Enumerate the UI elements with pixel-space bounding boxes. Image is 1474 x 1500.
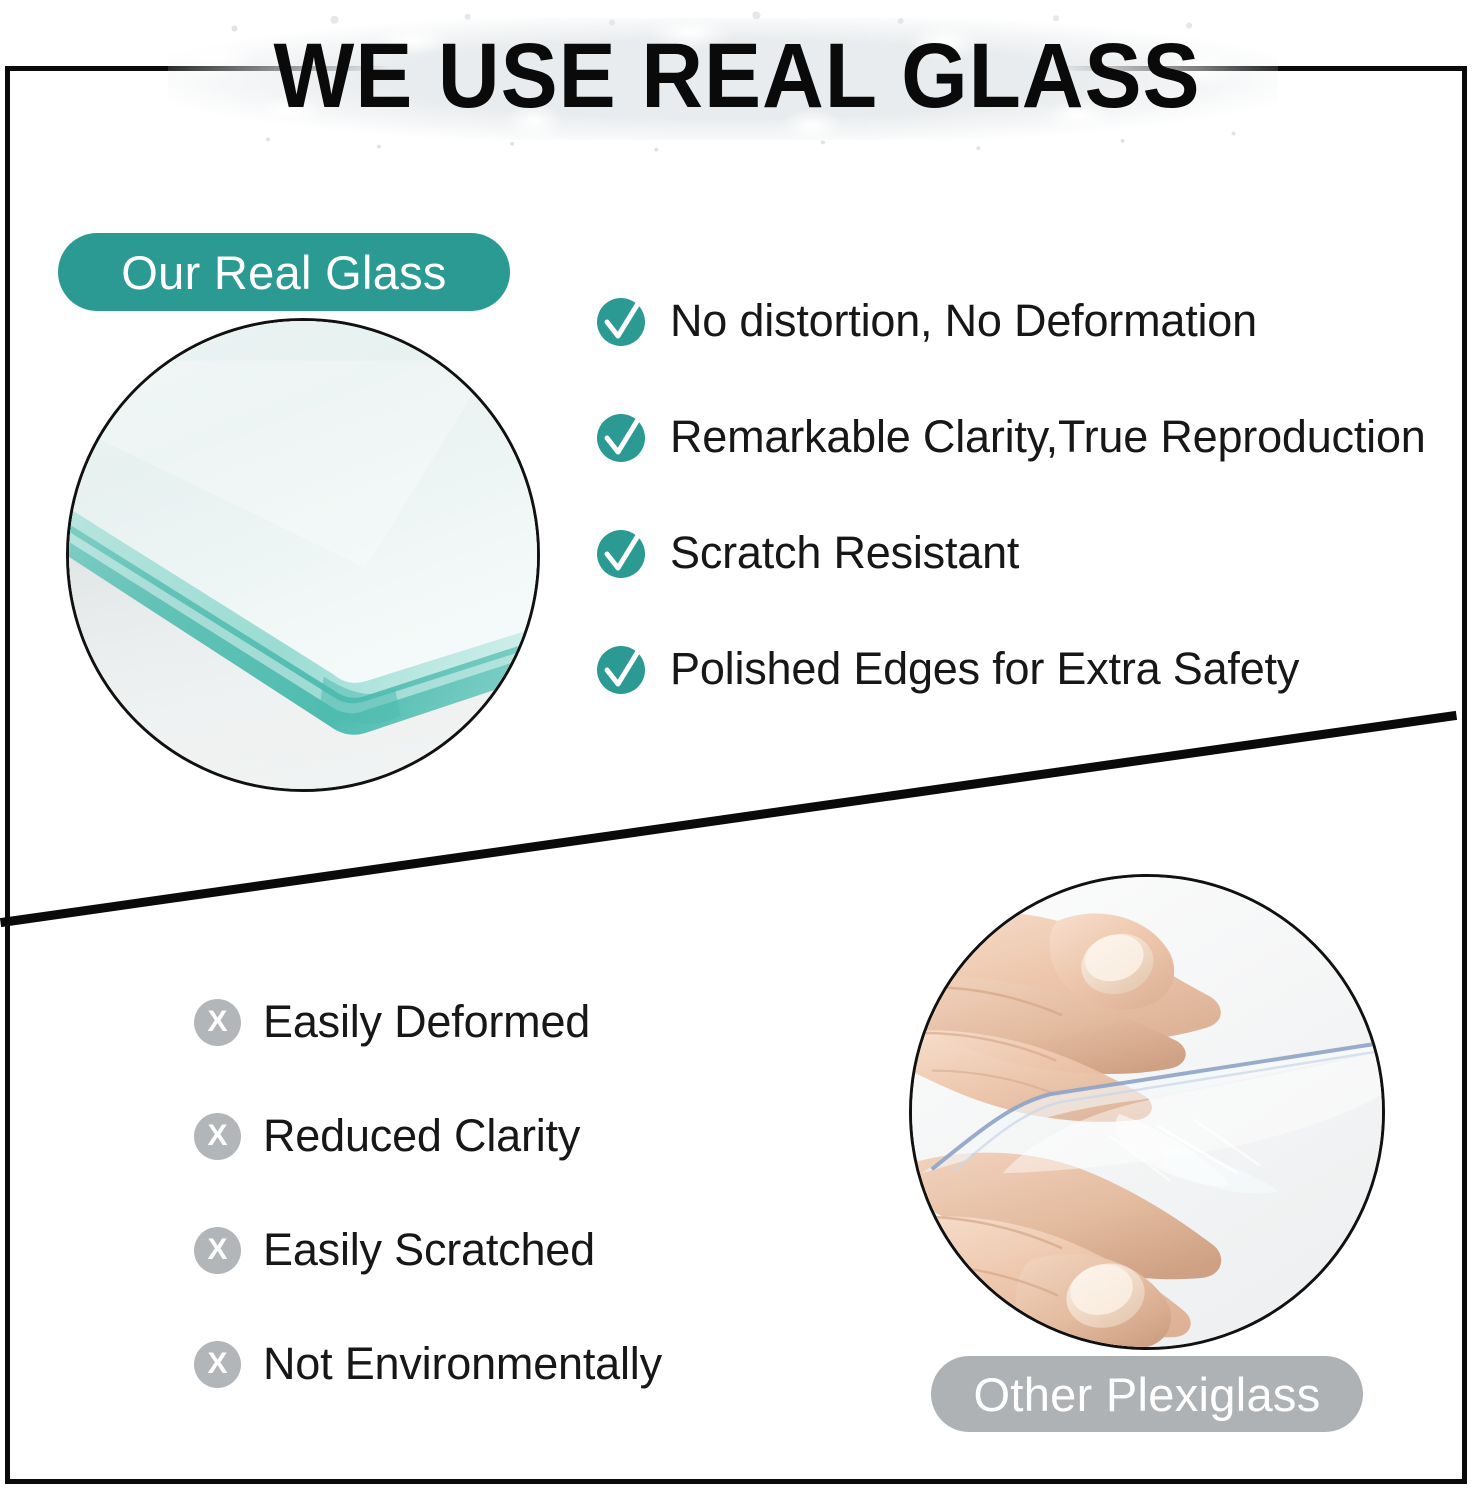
x-circle-icon: X bbox=[194, 1341, 241, 1388]
badge-our-real-glass-label: Our Real Glass bbox=[121, 249, 446, 296]
x-circle-icon: X bbox=[194, 999, 241, 1046]
check-circle-icon bbox=[596, 411, 648, 463]
list-item-label: Easily Scratched bbox=[263, 1224, 595, 1276]
list-item-label: Not Environmentally bbox=[263, 1338, 662, 1390]
list-item: Polished Edges for Extra Safety bbox=[596, 640, 1456, 698]
list-item-label: Easily Deformed bbox=[263, 996, 590, 1048]
list-item: X Reduced Clarity bbox=[194, 1110, 814, 1162]
list-item: Remarkable Clarity,True Reproduction bbox=[596, 408, 1456, 466]
check-circle-icon bbox=[596, 643, 648, 695]
pros-list: No distortion, No Deformation Remarkable… bbox=[596, 292, 1456, 756]
list-item-label: No distortion, No Deformation bbox=[670, 295, 1257, 347]
badge-other-plexiglass-label: Other Plexiglass bbox=[974, 1371, 1321, 1418]
x-circle-icon: X bbox=[194, 1113, 241, 1160]
list-item-label: Scratch Resistant bbox=[670, 527, 1019, 579]
list-item-label: Reduced Clarity bbox=[263, 1110, 580, 1162]
real-glass-corner-photo bbox=[66, 318, 540, 792]
list-item: X Easily Scratched bbox=[194, 1224, 814, 1276]
badge-our-real-glass: Our Real Glass bbox=[58, 233, 510, 311]
list-item: X Not Environmentally bbox=[194, 1338, 814, 1390]
infographic-canvas: WE USE REAL GLASS Our Real Glass bbox=[0, 0, 1474, 1500]
list-item: No distortion, No Deformation bbox=[596, 292, 1456, 350]
list-item: X Easily Deformed bbox=[194, 996, 814, 1048]
list-item: Scratch Resistant bbox=[596, 524, 1456, 582]
badge-other-plexiglass: Other Plexiglass bbox=[931, 1356, 1363, 1432]
page-title: WE USE REAL GLASS bbox=[52, 28, 1423, 124]
x-circle-icon: X bbox=[194, 1227, 241, 1274]
plexiglass-bending-photo bbox=[909, 874, 1385, 1350]
cons-list: X Easily Deformed X Reduced Clarity X Ea… bbox=[194, 996, 814, 1452]
list-item-label: Remarkable Clarity,True Reproduction bbox=[670, 411, 1426, 463]
check-circle-icon bbox=[596, 527, 648, 579]
list-item-label: Polished Edges for Extra Safety bbox=[670, 643, 1299, 695]
check-circle-icon bbox=[596, 295, 648, 347]
